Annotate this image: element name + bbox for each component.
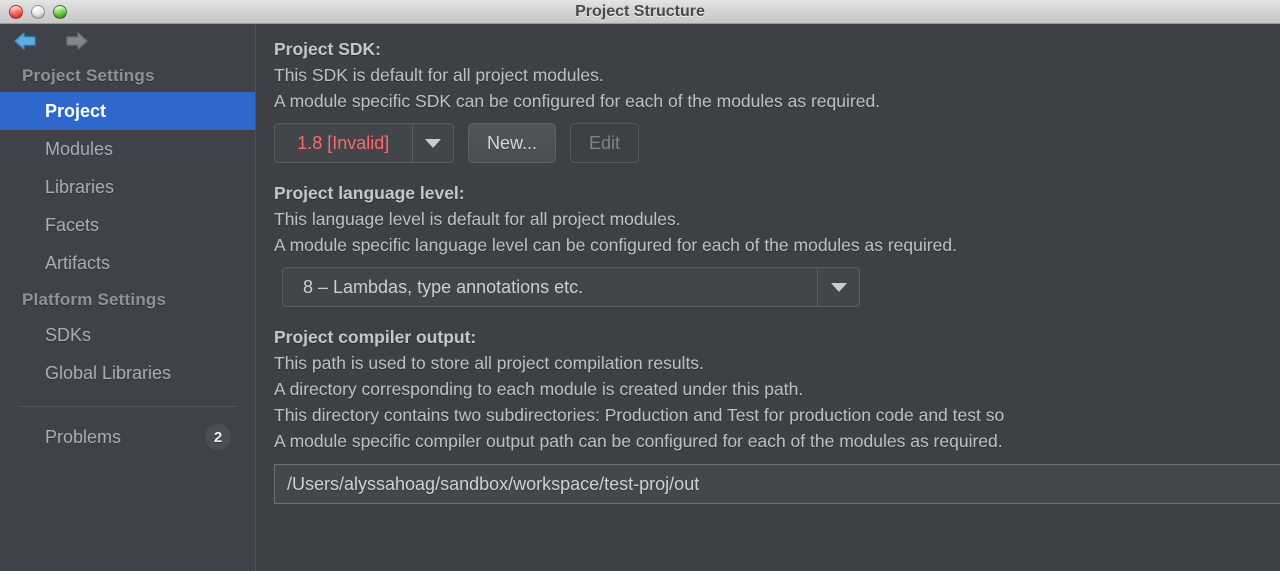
minimize-button[interactable] bbox=[31, 5, 45, 19]
sidebar-divider bbox=[18, 406, 237, 407]
sidebar-item-artifacts[interactable]: Artifacts bbox=[0, 244, 255, 282]
edit-sdk-button: Edit bbox=[570, 123, 639, 163]
window-title: Project Structure bbox=[0, 0, 1280, 24]
compiler-output-desc-1: This path is used to store all project c… bbox=[274, 350, 1280, 376]
back-arrow-icon[interactable] bbox=[12, 30, 42, 52]
sidebar-group-project-settings: Project Settings bbox=[0, 58, 255, 92]
project-structure-window: Project Structure Project Settings Proje… bbox=[0, 0, 1280, 571]
new-sdk-button[interactable]: New... bbox=[468, 123, 556, 163]
problems-count-badge: 2 bbox=[205, 424, 231, 450]
language-level-desc-1: This language level is default for all p… bbox=[274, 206, 1280, 232]
project-sdk-section: Project SDK: This SDK is default for all… bbox=[274, 36, 1280, 163]
language-level-value: 8 – Lambdas, type annotations etc. bbox=[283, 268, 817, 306]
sidebar-item-project[interactable]: Project bbox=[0, 92, 255, 130]
language-level-desc-2: A module specific language level can be … bbox=[274, 232, 1280, 258]
compiler-output-path-input[interactable]: /Users/alyssahoag/sandbox/workspace/test… bbox=[274, 464, 1280, 504]
sidebar-group-platform-settings: Platform Settings bbox=[0, 282, 255, 316]
language-level-section: Project language level: This language le… bbox=[274, 180, 1280, 307]
project-sdk-value: 1.8 [Invalid] bbox=[275, 124, 412, 162]
project-sdk-desc-1: This SDK is default for all project modu… bbox=[274, 62, 1280, 88]
chevron-down-icon bbox=[425, 139, 441, 148]
project-sdk-dropdown-arrow[interactable] bbox=[412, 124, 453, 162]
project-sdk-combobox[interactable]: 1.8 [Invalid] bbox=[274, 123, 454, 163]
language-level-title: Project language level: bbox=[274, 180, 1280, 206]
close-button[interactable] bbox=[9, 5, 23, 19]
sidebar-item-modules[interactable]: Modules bbox=[0, 130, 255, 168]
sidebar-item-problems[interactable]: Problems 2 bbox=[0, 417, 255, 457]
compiler-output-title: Project compiler output: bbox=[274, 324, 1280, 350]
compiler-output-desc-4: A module specific compiler output path c… bbox=[274, 428, 1280, 454]
project-sdk-desc-2: A module specific SDK can be configured … bbox=[274, 88, 1280, 114]
project-sdk-controls-row: 1.8 [Invalid] New... Edit bbox=[274, 123, 1280, 163]
language-level-dropdown-arrow[interactable] bbox=[817, 268, 859, 306]
sidebar-item-global-libraries[interactable]: Global Libraries bbox=[0, 354, 255, 392]
chevron-down-icon bbox=[831, 283, 847, 292]
compiler-output-path-value: /Users/alyssahoag/sandbox/workspace/test… bbox=[287, 474, 699, 495]
spacer-sdk-lang bbox=[274, 163, 1280, 180]
settings-sidebar: Project Settings Project Modules Librari… bbox=[0, 24, 256, 571]
language-level-combobox[interactable]: 8 – Lambdas, type annotations etc. bbox=[282, 267, 860, 307]
project-settings-panel: Project SDK: This SDK is default for all… bbox=[257, 24, 1280, 571]
spacer-lang-output bbox=[274, 307, 1280, 324]
sidebar-navigation-bar bbox=[0, 24, 255, 58]
compiler-output-desc-2: A directory corresponding to each module… bbox=[274, 376, 1280, 402]
window-body: Project Settings Project Modules Librari… bbox=[0, 24, 1280, 571]
sidebar-item-facets[interactable]: Facets bbox=[0, 206, 255, 244]
sidebar-item-sdks[interactable]: SDKs bbox=[0, 316, 255, 354]
traffic-lights bbox=[0, 5, 67, 19]
maximize-button[interactable] bbox=[53, 5, 67, 19]
language-level-controls-row: 8 – Lambdas, type annotations etc. bbox=[274, 267, 1280, 307]
project-sdk-title: Project SDK: bbox=[274, 36, 1280, 62]
forward-arrow-icon bbox=[60, 30, 90, 52]
compiler-output-section: Project compiler output: This path is us… bbox=[274, 324, 1280, 504]
problems-label: Problems bbox=[45, 427, 205, 448]
window-titlebar: Project Structure bbox=[0, 0, 1280, 24]
compiler-output-desc-3: This directory contains two subdirectori… bbox=[274, 402, 1280, 428]
sidebar-item-libraries[interactable]: Libraries bbox=[0, 168, 255, 206]
